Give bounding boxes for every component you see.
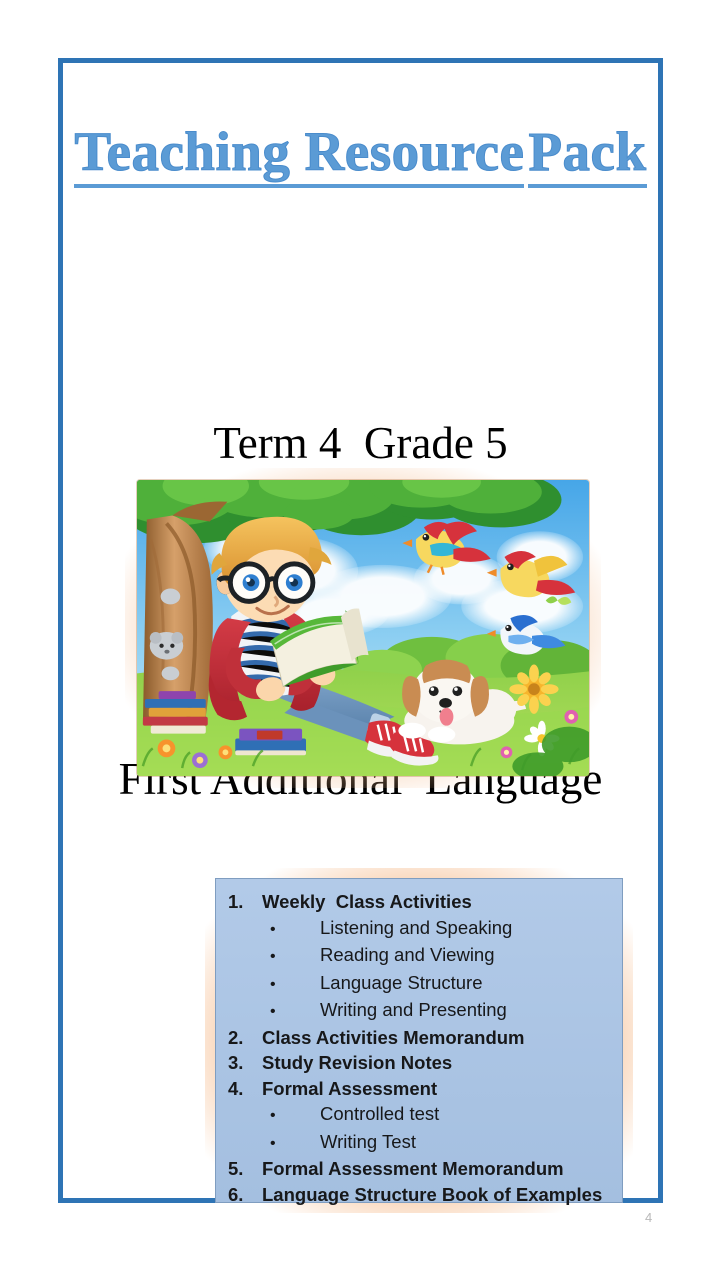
document-page: Teaching Resource Pack Term 4 Grade 5 En…	[58, 58, 663, 1203]
title-line-2: Pack	[528, 121, 646, 188]
page-title: Teaching Resource Pack	[63, 115, 658, 188]
contents-subitem-label: Writing Test	[320, 1129, 416, 1155]
contents-subitem-label: Listening and Speaking	[320, 915, 512, 941]
contents-subitem: •Writing Test	[228, 1129, 614, 1157]
subtitle-term-grade: Term 4 Grade 5	[63, 415, 658, 471]
contents-item-number: 6.	[228, 1182, 262, 1208]
reading-boy-illustration	[137, 480, 589, 776]
contents-subitem-label: Writing and Presenting	[320, 997, 507, 1023]
contents-list: 1.Weekly Class Activities•Listening and …	[215, 878, 623, 1203]
contents-subitem-label: Reading and Viewing	[320, 942, 495, 968]
bullet-icon: •	[270, 972, 320, 998]
contents-item-label: Class Activities Memorandum	[262, 1025, 525, 1051]
title-line-1: Teaching Resource	[74, 121, 524, 188]
contents-item: 6.Language Structure Book of Examples	[228, 1182, 614, 1208]
bullet-icon: •	[270, 944, 320, 970]
contents-item: 4.Formal Assessment	[228, 1076, 614, 1102]
contents-item: 1.Weekly Class Activities	[228, 889, 614, 915]
contents-item-number: 2.	[228, 1025, 262, 1051]
contents-subitem: •Listening and Speaking	[228, 915, 614, 943]
contents-box-frame: 1.Weekly Class Activities•Listening and …	[205, 868, 633, 1213]
illustration-frame	[125, 468, 601, 788]
bullet-icon: •	[270, 999, 320, 1025]
contents-item-label: Formal Assessment Memorandum	[262, 1156, 564, 1182]
bullet-icon: •	[270, 917, 320, 943]
bullet-icon: •	[270, 1103, 320, 1129]
contents-subitem-label: Controlled test	[320, 1101, 439, 1127]
contents-item-number: 1.	[228, 889, 262, 915]
bullet-icon: •	[270, 1131, 320, 1157]
contents-item-label: Weekly Class Activities	[262, 889, 472, 915]
contents-subitem: •Language Structure	[228, 970, 614, 998]
contents-subitem-label: Language Structure	[320, 970, 483, 996]
contents-subitem: •Reading and Viewing	[228, 942, 614, 970]
contents-item: 5.Formal Assessment Memorandum	[228, 1156, 614, 1182]
contents-subitem: •Controlled test	[228, 1101, 614, 1129]
contents-subitem: •Writing and Presenting	[228, 997, 614, 1025]
contents-item-label: Language Structure Book of Examples	[262, 1182, 602, 1208]
page-number: 4	[645, 1210, 652, 1225]
contents-item-number: 3.	[228, 1050, 262, 1076]
contents-item: 2.Class Activities Memorandum	[228, 1025, 614, 1051]
contents-item-number: 4.	[228, 1076, 262, 1102]
contents-item-number: 5.	[228, 1156, 262, 1182]
contents-item-label: Formal Assessment	[262, 1076, 437, 1102]
contents-item-label: Study Revision Notes	[262, 1050, 452, 1076]
contents-item: 3.Study Revision Notes	[228, 1050, 614, 1076]
